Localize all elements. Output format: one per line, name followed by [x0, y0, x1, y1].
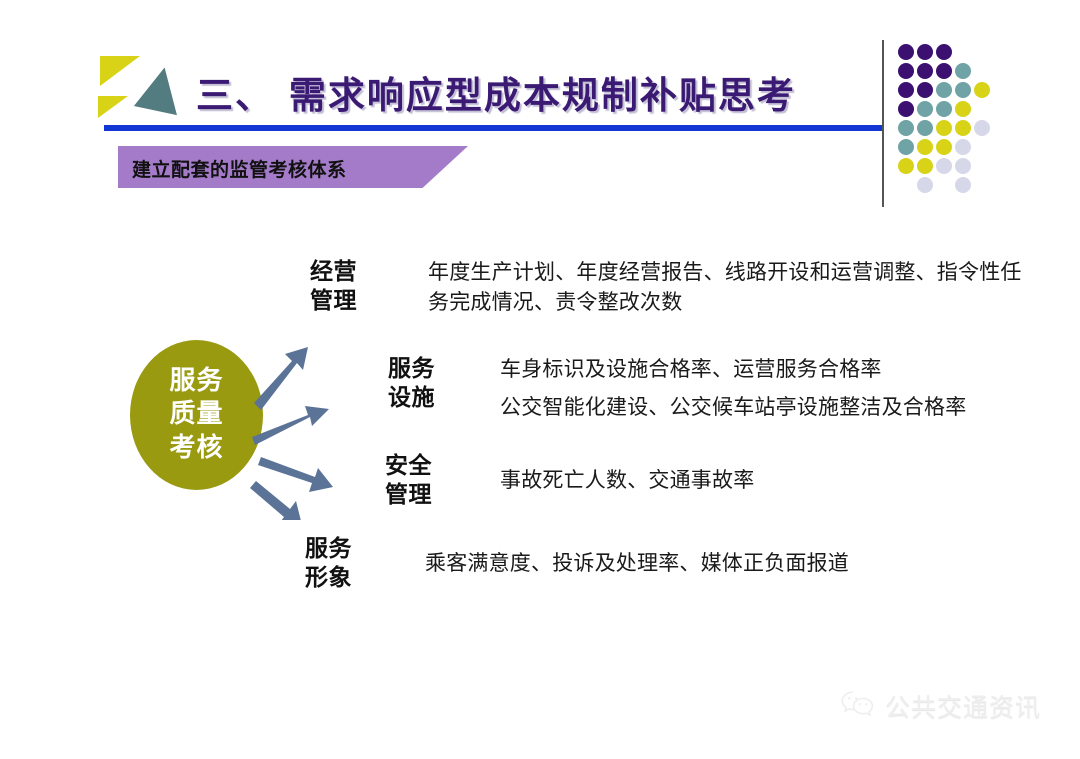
- row-label-line-1: 安全: [385, 453, 432, 479]
- decorative-dot: [898, 82, 914, 98]
- row-body-jingying-guanli: 年度生产计划、年度经营报告、线路开设和运营调整、指令性任务完成情况、责令整改次数: [428, 258, 1028, 318]
- row-label-jingying-guanli: 经营 管理: [310, 258, 357, 317]
- decorative-dot: [917, 177, 933, 193]
- decorative-dot: [898, 63, 914, 79]
- row-label-line-2: 设施: [388, 385, 435, 411]
- decorative-dot: [898, 139, 914, 155]
- arrows-svg: [250, 325, 370, 520]
- decorative-dot: [898, 120, 914, 136]
- row-label-line-1: 服务: [388, 356, 435, 382]
- decorative-dot: [974, 120, 990, 136]
- decorative-dot: [917, 82, 933, 98]
- row-body-paragraph: 事故死亡人数、交通事故率: [500, 466, 920, 496]
- decorative-dot: [955, 82, 971, 98]
- watermark-label: 公共交通资讯: [885, 688, 1041, 724]
- watermark: 公共交通资讯: [840, 688, 1041, 724]
- row-body-paragraph: 公交智能化建设、公交候车站亭设施整洁及合格率: [500, 393, 1000, 423]
- triangle-teal-icon: [134, 63, 186, 115]
- decorative-dot: [936, 101, 952, 117]
- row-label-line-1: 服务: [305, 536, 352, 562]
- decorative-dot: [936, 139, 952, 155]
- row-body-paragraph: 年度生产计划、年度经营报告、线路开设和运营调整、指令性任务完成情况、责令整改次数: [428, 258, 1028, 318]
- arrow-2-icon: [252, 406, 329, 445]
- decorative-dot: [955, 139, 971, 155]
- radiating-arrows: [250, 325, 370, 520]
- banner-label: 建立配套的监管考核体系: [132, 155, 347, 182]
- decorative-dot: [917, 101, 933, 117]
- logo-triangles: [96, 54, 188, 126]
- decorative-dot: [955, 120, 971, 136]
- hub-line-2: 质量: [169, 398, 223, 431]
- triangle-yellow-upper-icon: [100, 56, 140, 86]
- decorative-dot: [974, 82, 990, 98]
- decorative-dot: [917, 158, 933, 174]
- row-label-anquan-guanli: 安全 管理: [385, 452, 432, 511]
- row-body-anquan-guanli: 事故死亡人数、交通事故率: [500, 466, 920, 496]
- title-underline-rule: [104, 125, 884, 131]
- decorative-dot: [917, 120, 933, 136]
- decorative-dot: [936, 158, 952, 174]
- decorative-dot: [898, 158, 914, 174]
- vertical-divider-rule: [882, 40, 884, 207]
- slide-canvas: 三、 需求响应型成本规制补贴思考 建立配套的监管考核体系 服务 质量 考核: [0, 0, 1080, 759]
- row-body-fuwu-xingxiang: 乘客满意度、投诉及处理率、媒体正负面报道: [425, 549, 945, 579]
- decorative-dot: [955, 63, 971, 79]
- row-label-fuwu-xingxiang: 服务 形象: [305, 535, 352, 594]
- row-body-paragraph: 乘客满意度、投诉及处理率、媒体正负面报道: [425, 549, 945, 579]
- row-body-paragraph: 车身标识及设施合格率、运营服务合格率: [500, 355, 1000, 385]
- decorative-dot: [936, 44, 952, 60]
- decorative-dot: [917, 63, 933, 79]
- hub-circle: 服务 质量 考核: [130, 340, 263, 490]
- decorative-dot: [955, 158, 971, 174]
- arrow-1-icon: [254, 347, 308, 410]
- wechat-icon: [840, 689, 876, 723]
- triangle-yellow-lower-icon: [98, 96, 128, 118]
- decorative-dot: [936, 63, 952, 79]
- decorative-dot: [936, 82, 952, 98]
- decorative-dot: [898, 44, 914, 60]
- row-body-fuwu-sheshi: 车身标识及设施合格率、运营服务合格率 公交智能化建设、公交候车站亭设施整洁及合格…: [500, 355, 1000, 423]
- section-banner: 建立配套的监管考核体系: [118, 146, 468, 188]
- decorative-dot: [917, 44, 933, 60]
- arrow-3-icon: [258, 457, 333, 492]
- row-label-line-2: 形象: [305, 565, 352, 591]
- row-label-fuwu-sheshi: 服务 设施: [388, 355, 435, 414]
- hub-line-3: 考核: [169, 432, 223, 465]
- row-label-line-1: 经营: [310, 259, 357, 285]
- decorative-dot-matrix: [898, 44, 990, 194]
- decorative-dot: [898, 101, 914, 117]
- hub-line-1: 服务: [169, 365, 223, 398]
- decorative-dot: [955, 101, 971, 117]
- decorative-dot: [955, 177, 971, 193]
- page-title: 三、 需求响应型成本规制补贴思考: [196, 65, 796, 119]
- arrow-4-icon: [250, 481, 302, 520]
- row-label-line-2: 管理: [310, 288, 357, 314]
- decorative-dot: [936, 120, 952, 136]
- decorative-dot: [917, 139, 933, 155]
- row-label-line-2: 管理: [385, 482, 432, 508]
